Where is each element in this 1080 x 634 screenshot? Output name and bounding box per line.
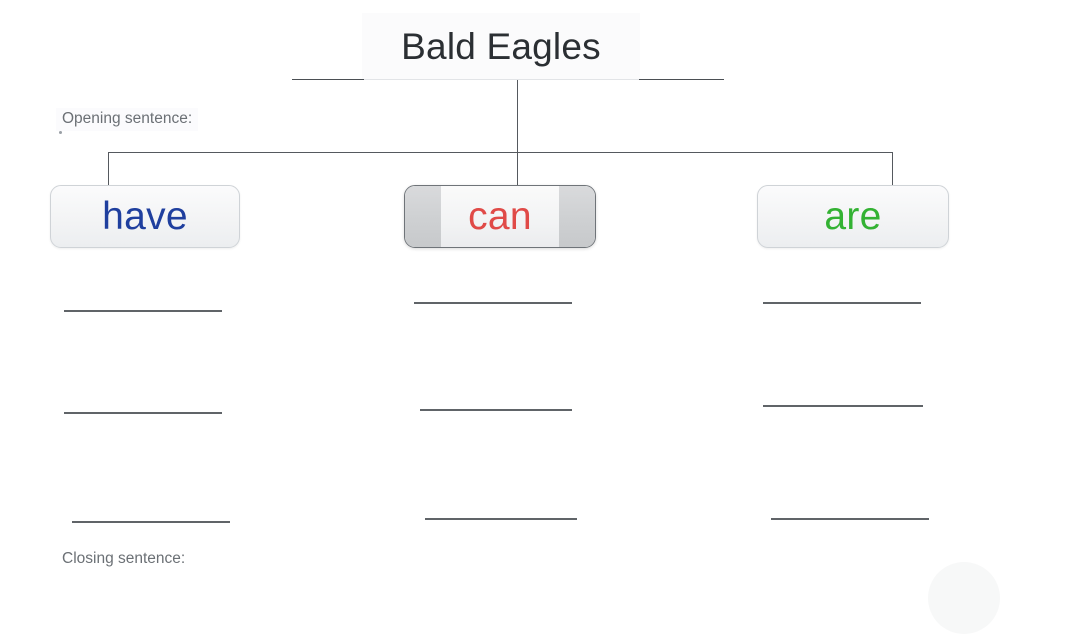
connector-drop-left bbox=[108, 152, 109, 185]
writing-line-can-1[interactable] bbox=[414, 302, 572, 304]
resize-handle-right-icon[interactable] bbox=[559, 186, 595, 247]
page-title: Bald Eagles bbox=[401, 28, 601, 65]
decorative-blob bbox=[928, 562, 1000, 634]
title-underline-right bbox=[639, 79, 724, 80]
writing-line-can-2[interactable] bbox=[420, 409, 572, 411]
category-chip-have-label: have bbox=[102, 197, 188, 236]
category-chip-have[interactable]: have bbox=[50, 185, 240, 248]
writing-line-have-1[interactable] bbox=[64, 310, 222, 312]
title-underline-left bbox=[292, 79, 364, 80]
worksheet-canvas: Bald Eagles Opening sentence: Closing se… bbox=[0, 0, 1080, 597]
category-chip-can[interactable]: can bbox=[404, 185, 596, 248]
writing-line-are-3[interactable] bbox=[771, 518, 929, 520]
resize-handle-left-icon[interactable] bbox=[405, 186, 441, 247]
bullet-dot-icon bbox=[59, 131, 62, 134]
category-chip-can-label: can bbox=[468, 197, 532, 236]
title-box[interactable]: Bald Eagles bbox=[362, 13, 640, 80]
writing-line-are-2[interactable] bbox=[763, 405, 923, 407]
connector-drop-right bbox=[892, 152, 893, 185]
writing-line-can-3[interactable] bbox=[425, 518, 577, 520]
opening-sentence-label: Opening sentence: bbox=[56, 108, 198, 131]
title-underline-middle bbox=[363, 79, 640, 80]
connector-horizontal bbox=[108, 152, 893, 153]
category-chip-are-label: are bbox=[824, 197, 881, 236]
writing-line-have-2[interactable] bbox=[64, 412, 222, 414]
closing-sentence-label: Closing sentence: bbox=[56, 548, 191, 571]
writing-line-are-1[interactable] bbox=[763, 302, 921, 304]
category-chip-are[interactable]: are bbox=[757, 185, 949, 248]
writing-line-have-3[interactable] bbox=[72, 521, 230, 523]
connector-trunk bbox=[517, 80, 518, 185]
